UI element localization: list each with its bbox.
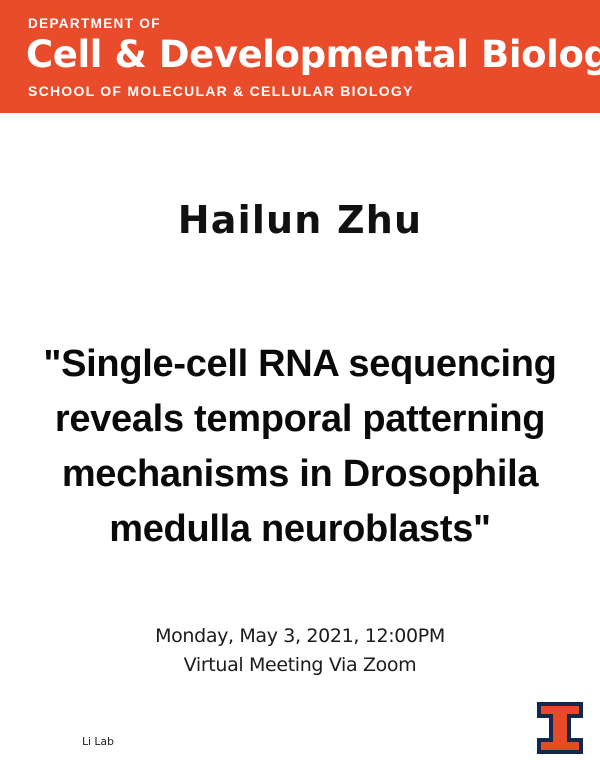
department-eyebrow-label: DEPARTMENT OF xyxy=(28,17,161,31)
seminar-flyer: DEPARTMENT OF Cell & Developmental Biolo… xyxy=(0,0,600,777)
school-subtitle-label: SCHOOL OF MOLECULAR & CELLULAR BIOLOGY xyxy=(28,84,414,98)
meeting-datetime: Monday, May 3, 2021, 12:00PM xyxy=(0,622,600,651)
header-banner: DEPARTMENT OF Cell & Developmental Biolo… xyxy=(0,0,600,113)
talk-title: "Single-cell RNA sequencing reveals temp… xyxy=(18,337,582,557)
meeting-details: Monday, May 3, 2021, 12:00PM Virtual Mee… xyxy=(0,622,600,680)
speaker-name: Hailun Zhu xyxy=(0,199,600,243)
meeting-location: Virtual Meeting Via Zoom xyxy=(0,651,600,680)
department-name-title: Cell & Developmental Biology xyxy=(26,33,600,77)
talk-title-line-3: mechanisms in Drosophila xyxy=(18,447,582,502)
talk-title-line-1: "Single-cell RNA sequencing xyxy=(18,337,582,392)
host-lab-label: Li Lab xyxy=(82,736,114,747)
university-of-illinois-block-i-logo xyxy=(536,702,584,754)
talk-title-line-2: reveals temporal patterning xyxy=(18,392,582,447)
talk-title-line-4: medulla neuroblasts" xyxy=(18,502,582,557)
